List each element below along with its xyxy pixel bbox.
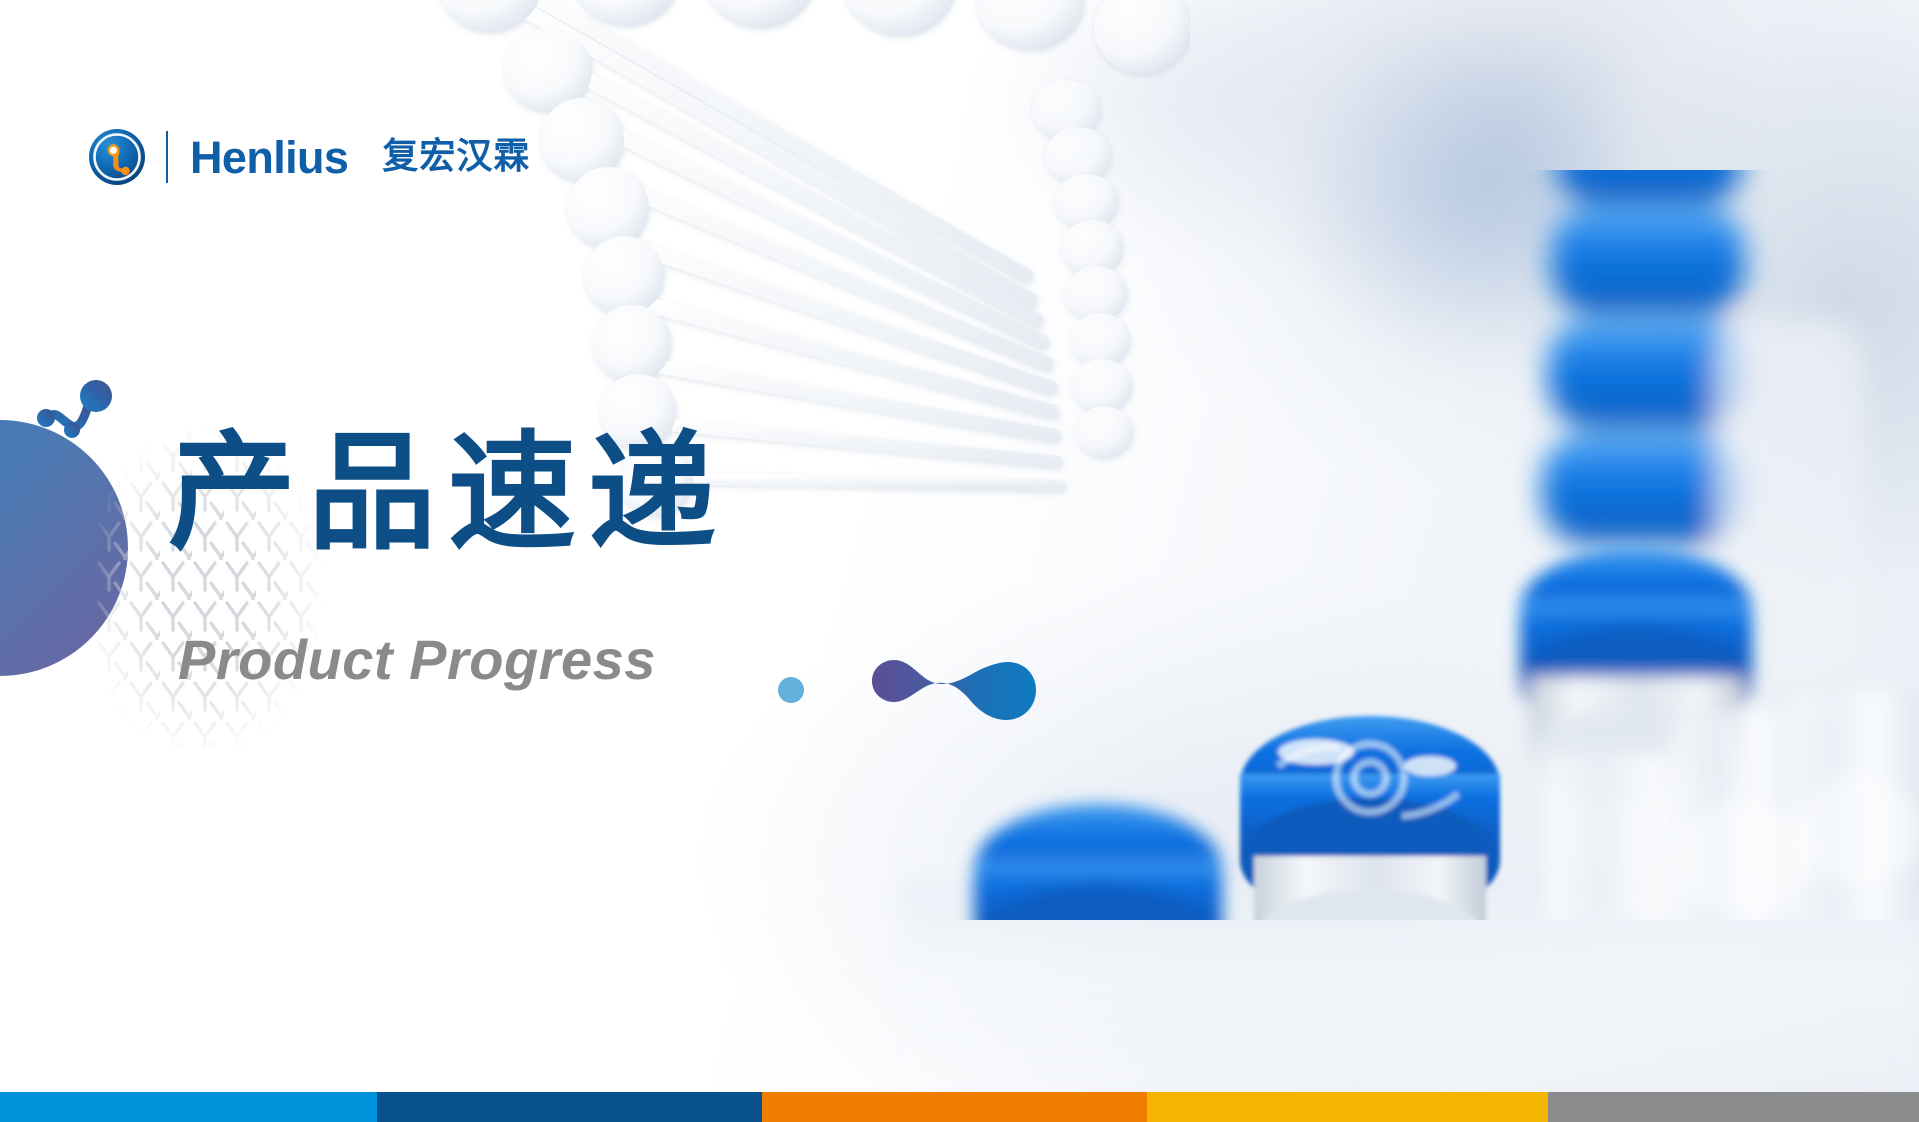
molecule-cluster-icon bbox=[26, 378, 136, 458]
page-subtitle: Product Progress bbox=[178, 632, 656, 688]
colorbar-segment-orange bbox=[762, 1092, 1147, 1122]
logo-divider bbox=[166, 131, 168, 183]
brand-logo[interactable]: Henlius 复宏汉霖 bbox=[88, 128, 530, 186]
brand-color-bar bbox=[0, 1092, 1919, 1122]
colorbar-segment-yellow bbox=[1147, 1092, 1548, 1122]
logo-chinese-name: 复宏汉霖 bbox=[382, 139, 530, 175]
colorbar-segment-dark-blue bbox=[377, 1092, 762, 1122]
page-title: 产品速递 bbox=[168, 430, 728, 558]
colorbar-segment-light-blue bbox=[0, 1092, 377, 1122]
henlius-emblem-icon bbox=[88, 128, 146, 186]
logo-wordmark: Henlius bbox=[190, 135, 348, 180]
accent-dot-icon bbox=[778, 677, 804, 703]
colorbar-segment-gray bbox=[1548, 1092, 1919, 1122]
vaccine-vials bbox=[830, 170, 1919, 920]
title-slide: Henlius 复宏汉霖 产品速递 Product Progress bbox=[0, 0, 1919, 1122]
molecule-dumbbell-icon bbox=[858, 650, 1040, 724]
